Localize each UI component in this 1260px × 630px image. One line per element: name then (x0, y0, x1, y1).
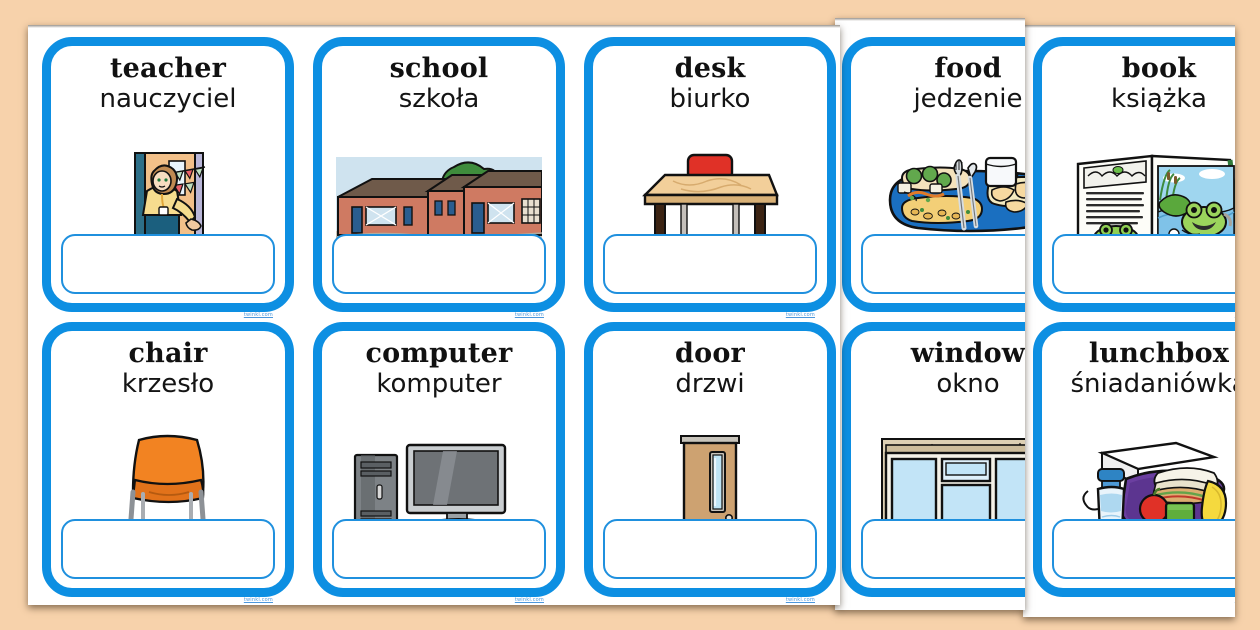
word-polish: śniadaniówka (1070, 370, 1235, 399)
flashcard-chair[interactable]: chair krzesło twinkl.com (42, 322, 294, 597)
flashcard-school[interactable]: school szkoła (313, 37, 565, 312)
flashcard-door[interactable]: door drzwi twinkl.com (584, 322, 836, 597)
word-english: book (1122, 55, 1196, 84)
word-english: door (675, 340, 745, 369)
answer-write-box[interactable] (61, 519, 275, 579)
flashcard-teacher[interactable]: teacher nauczyciel (42, 37, 294, 312)
watermark-text: twinkl.com (515, 312, 544, 318)
watermark-text: twinkl.com (786, 597, 815, 603)
word-english: window (911, 340, 1025, 369)
answer-write-box[interactable] (332, 519, 546, 579)
answer-write-box[interactable] (861, 519, 1025, 579)
answer-write-box[interactable] (332, 234, 546, 294)
word-polish: książka (1111, 85, 1207, 114)
flashcard-computer[interactable]: computer komputer (313, 322, 565, 597)
sheet-top-shadow (28, 25, 840, 28)
word-polish: szkoła (399, 85, 480, 114)
word-polish: biurko (670, 85, 751, 114)
word-polish: okno (936, 370, 999, 399)
worksheet-sheet-2: food jedzenie (835, 18, 1025, 610)
flashcard-book[interactable]: book książka (1033, 37, 1235, 312)
word-polish: jedzenie (913, 85, 1022, 114)
word-english: school (390, 55, 489, 84)
word-english: desk (675, 55, 746, 84)
sheet-top-shadow (1023, 25, 1235, 28)
watermark-text: twinkl.com (244, 597, 273, 603)
word-english: computer (365, 340, 512, 369)
watermark-text: twinkl.com (244, 312, 273, 318)
word-english: lunchbox (1089, 340, 1229, 369)
word-english: teacher (110, 55, 226, 84)
answer-write-box[interactable] (1052, 519, 1235, 579)
word-polish: drzwi (675, 370, 744, 399)
word-polish: komputer (376, 370, 501, 399)
answer-write-box[interactable] (61, 234, 275, 294)
watermark-text: twinkl.com (786, 312, 815, 318)
word-polish: nauczyciel (100, 85, 237, 114)
flashcard-food[interactable]: food jedzenie (842, 37, 1025, 312)
worksheet-sheet-1: teacher nauczyciel (28, 25, 840, 605)
answer-write-box[interactable] (603, 234, 817, 294)
answer-write-box[interactable] (861, 234, 1025, 294)
sheet-top-shadow (835, 18, 1025, 21)
answer-write-box[interactable] (603, 519, 817, 579)
watermark-text: twinkl.com (515, 597, 544, 603)
worksheet-sheet-3: book książka (1023, 25, 1235, 617)
flashcard-window[interactable]: window okno (842, 322, 1025, 597)
answer-write-box[interactable] (1052, 234, 1235, 294)
flashcard-lunchbox[interactable]: lunchbox śniadaniówka (1033, 322, 1235, 597)
word-polish: krzesło (122, 370, 214, 399)
word-english: food (934, 55, 1001, 84)
word-english: chair (128, 340, 207, 369)
flashcard-desk[interactable]: desk biurko twinkl.com (584, 37, 836, 312)
